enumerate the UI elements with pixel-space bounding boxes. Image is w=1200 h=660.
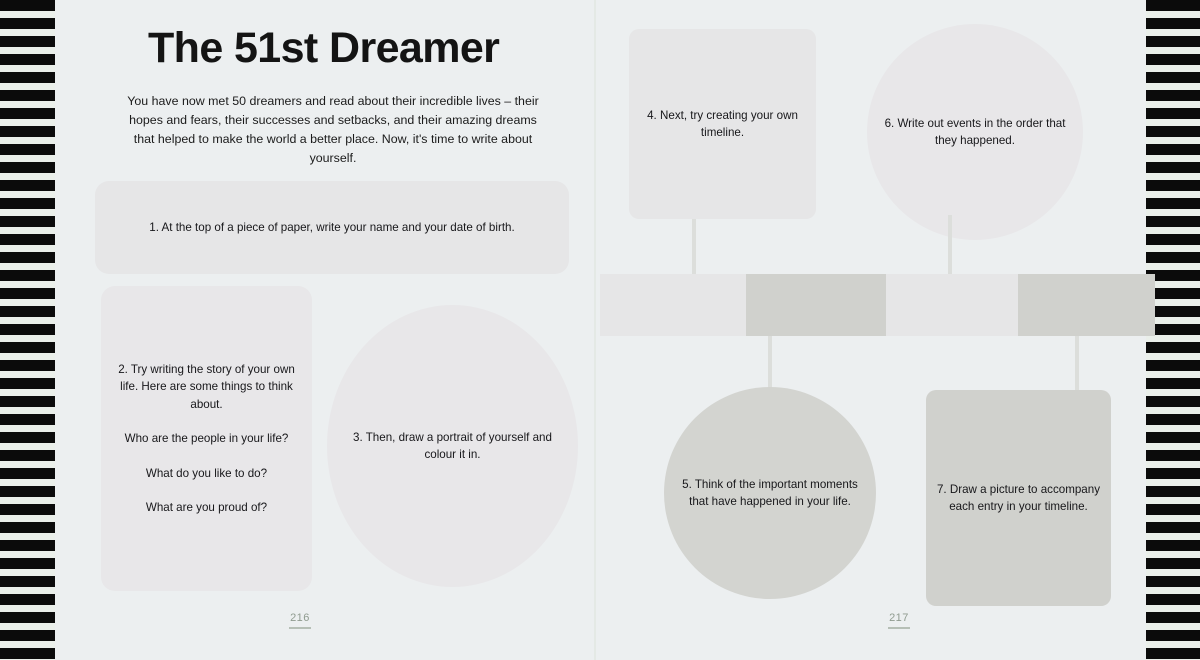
step-5-shape: 5. Think of the important moments that h… (664, 387, 876, 599)
step-3-text: 3. Then, draw a portrait of yourself and… (327, 429, 578, 464)
timeline-segment-2 (746, 274, 886, 336)
page-title: The 51st Dreamer (148, 24, 499, 73)
step-5-line-1: 5. Think of the important moments that h… (674, 476, 866, 511)
connector-timeline-to-step7 (1075, 336, 1079, 392)
connector-step6-to-timeline (948, 215, 952, 275)
step-4-shape: 4. Next, try creating your own timeline. (629, 29, 816, 219)
step-2-line-1: 2. Try writing the story of your own lif… (111, 361, 302, 414)
step-3-line-1: 3. Then, draw a portrait of yourself and… (337, 429, 568, 464)
page-number-right-value: 217 (879, 612, 919, 624)
step-4-line-1: 4. Next, try creating your own timeline. (639, 107, 806, 142)
connector-step4-to-timeline (692, 219, 696, 275)
page-number-left-rule (289, 627, 311, 629)
intro-paragraph: You have now met 50 dreamers and read ab… (118, 92, 548, 168)
step-6-text: 6. Write out events in the order that th… (867, 115, 1083, 150)
step-2-line-4: What are you proud of? (111, 499, 302, 517)
step-5-text: 5. Think of the important moments that h… (664, 476, 876, 511)
page-gutter (594, 0, 596, 660)
step-1-line-1: 1. At the top of a piece of paper, write… (105, 219, 559, 237)
step-6-line-1: 6. Write out events in the order that th… (877, 115, 1073, 150)
step-7-text: 7. Draw a picture to accompany each entr… (926, 481, 1111, 516)
page-number-left-value: 216 (280, 612, 320, 624)
timeline-segment-4 (1018, 274, 1155, 336)
step-6-shape: 6. Write out events in the order that th… (867, 24, 1083, 240)
timeline-segment-3 (886, 274, 1018, 336)
step-7-line-1: 7. Draw a picture to accompany each entr… (936, 481, 1101, 516)
step-2-line-3: What do you like to do? (111, 465, 302, 483)
step-7-shape: 7. Draw a picture to accompany each entr… (926, 390, 1111, 606)
book-spread: The 51st Dreamer You have now met 50 dre… (0, 0, 1200, 660)
timeline-segment-1 (600, 274, 746, 336)
page-number-right-rule (888, 627, 910, 629)
step-1-shape: 1. At the top of a piece of paper, write… (95, 181, 569, 274)
step-4-text: 4. Next, try creating your own timeline. (629, 107, 816, 142)
page-number-left: 216 (280, 612, 320, 629)
connector-timeline-to-step5 (768, 336, 772, 392)
step-2-line-2: Who are the people in your life? (111, 430, 302, 448)
step-3-shape: 3. Then, draw a portrait of yourself and… (327, 305, 578, 587)
step-2-shape: 2. Try writing the story of your own lif… (101, 286, 312, 591)
stripe-band-left (0, 0, 55, 660)
step-1-text: 1. At the top of a piece of paper, write… (95, 219, 569, 237)
page-number-right: 217 (879, 612, 919, 629)
step-2-text: 2. Try writing the story of your own lif… (101, 361, 312, 517)
